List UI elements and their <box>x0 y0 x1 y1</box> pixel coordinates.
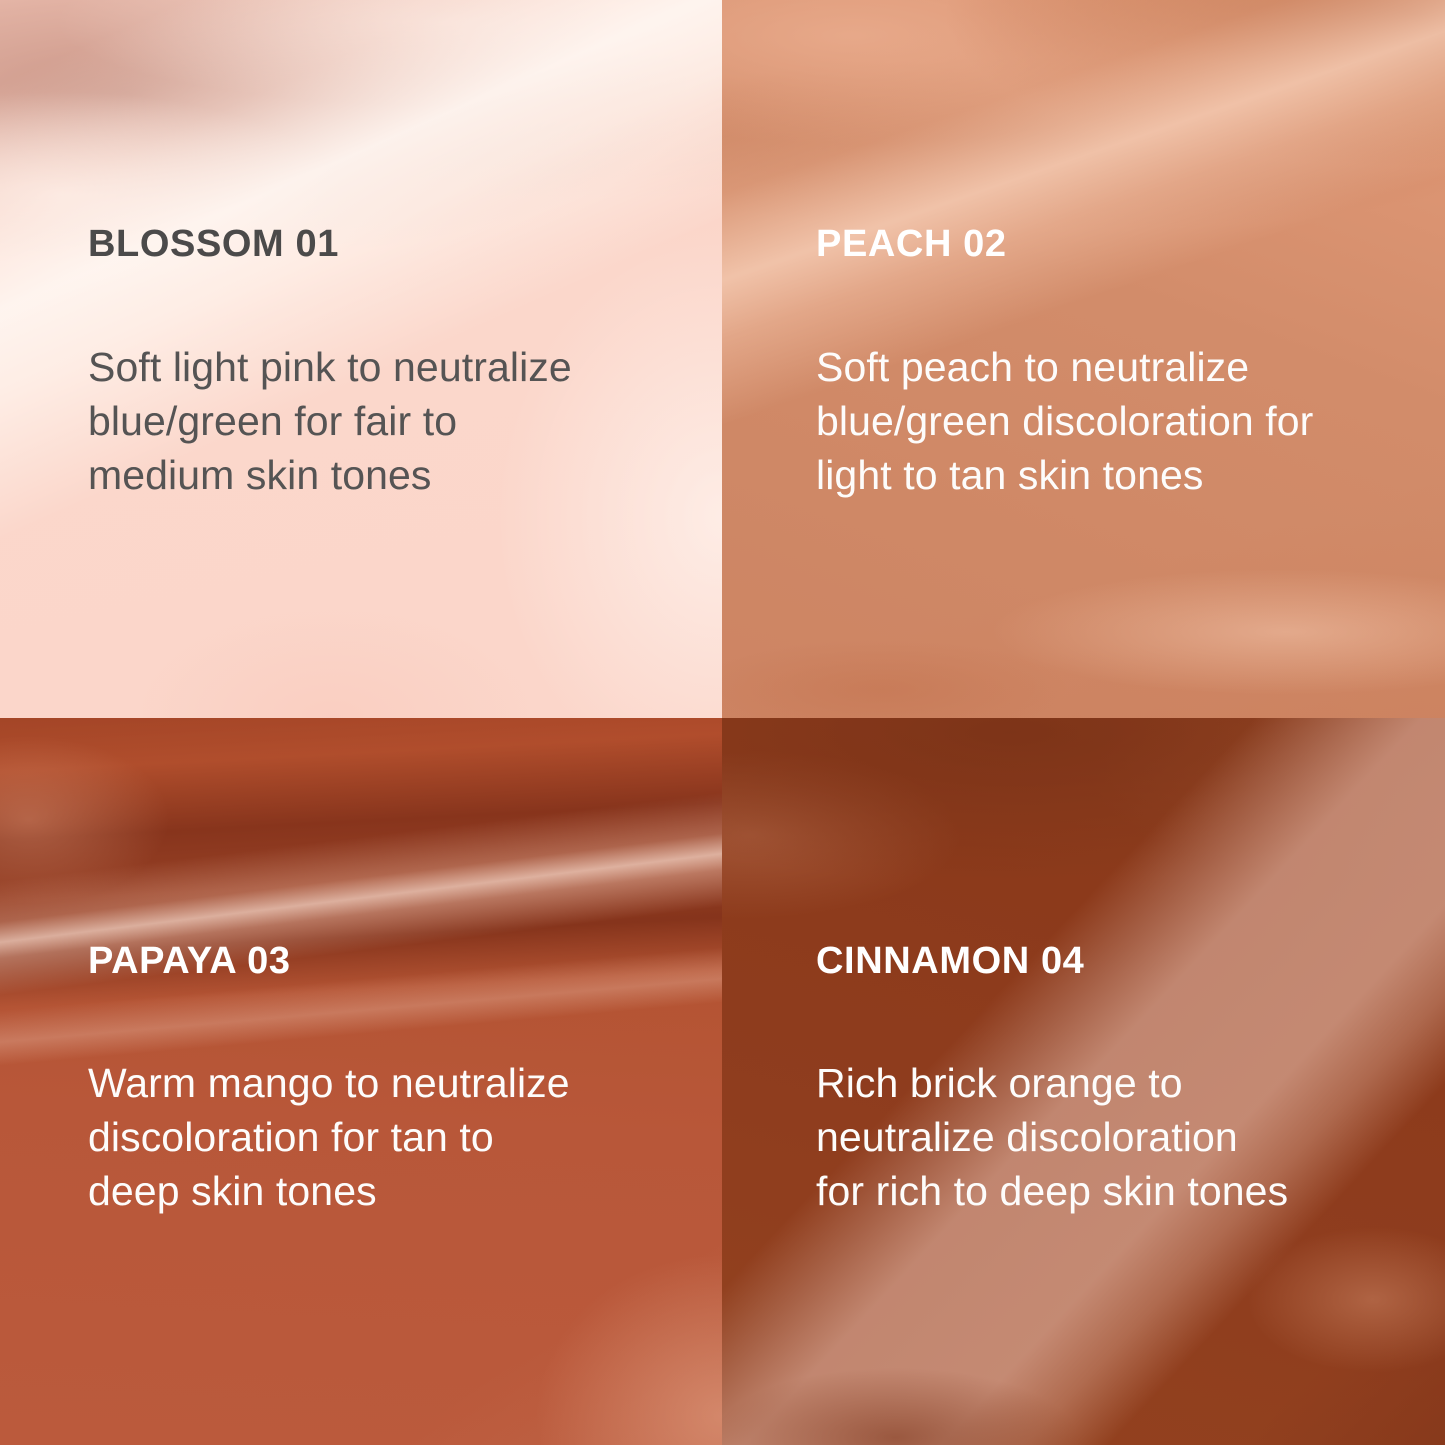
shade-name-papaya: PAPAYA 03 <box>88 942 722 980</box>
shade-text-block-cinnamon: CINNAMON 04 Rich brick orange to neutral… <box>722 718 1445 1218</box>
shade-text-block-papaya: PAPAYA 03 Warm mango to neutralize disco… <box>0 718 722 1218</box>
shade-description-peach: Soft peach to neutralize blue/green disc… <box>816 340 1445 502</box>
shade-name-cinnamon: CINNAMON 04 <box>816 942 1445 980</box>
shade-card-peach[interactable]: PEACH 02 Soft peach to neutralize blue/g… <box>722 0 1445 718</box>
shade-name-peach: PEACH 02 <box>816 225 1445 263</box>
shade-card-blossom[interactable]: BLOSSOM 01 Soft light pink to neutralize… <box>0 0 722 718</box>
shade-description-blossom: Soft light pink to neutralize blue/green… <box>88 340 722 502</box>
shade-card-cinnamon[interactable]: CINNAMON 04 Rich brick orange to neutral… <box>722 718 1445 1445</box>
shade-swatch-grid: BLOSSOM 01 Soft light pink to neutralize… <box>0 0 1445 1445</box>
shade-card-papaya[interactable]: PAPAYA 03 Warm mango to neutralize disco… <box>0 718 722 1445</box>
shade-description-cinnamon: Rich brick orange to neutralize discolor… <box>816 1056 1445 1218</box>
shade-description-papaya: Warm mango to neutralize discoloration f… <box>88 1056 722 1218</box>
shade-name-blossom: BLOSSOM 01 <box>88 225 722 263</box>
